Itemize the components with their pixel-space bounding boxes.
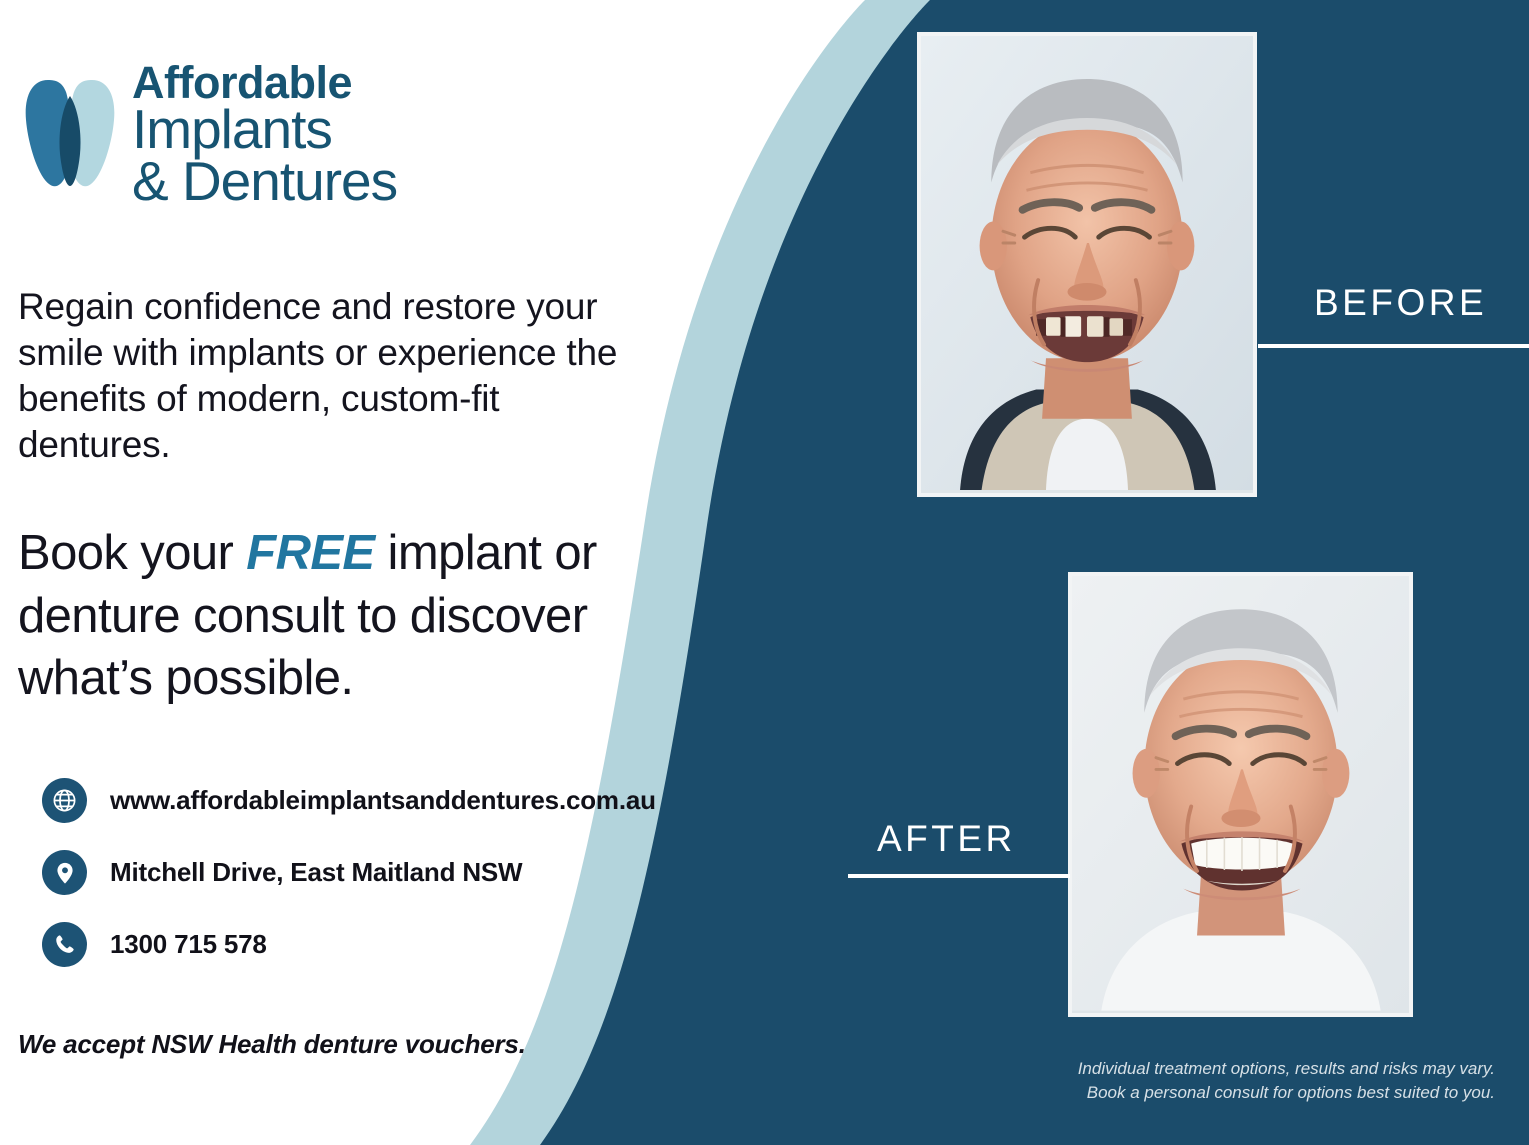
before-photo [917, 32, 1257, 497]
after-label: AFTER [877, 818, 1016, 860]
advertisement-canvas: Affordable Implants & Dentures Regain co… [0, 0, 1529, 1145]
before-label: BEFORE [1314, 282, 1487, 324]
disclaimer-line-2: Book a personal consult for options best… [995, 1081, 1495, 1105]
before-rule [1258, 344, 1529, 348]
after-rule [848, 874, 1070, 878]
after-photo [1068, 572, 1413, 1017]
right-content-column: BEFORE [0, 0, 1529, 1145]
disclaimer: Individual treatment options, results an… [995, 1057, 1495, 1105]
disclaimer-line-1: Individual treatment options, results an… [995, 1057, 1495, 1081]
